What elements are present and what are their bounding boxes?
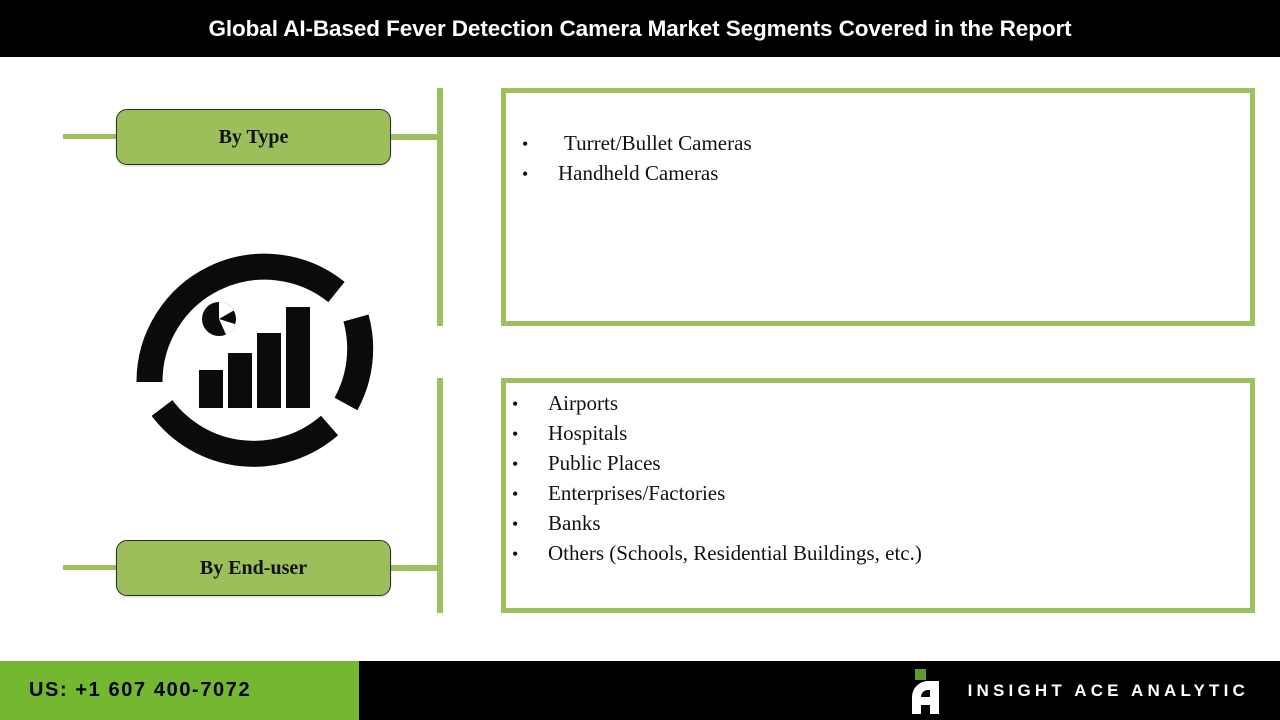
segment-label-by-end-user[interactable]: By End-user xyxy=(116,540,391,596)
bullet-icon: • xyxy=(512,390,548,419)
list-item: • Banks xyxy=(512,509,1250,539)
list-item: • Others (Schools, Residential Buildings… xyxy=(512,539,1250,569)
list-item: • Airports xyxy=(512,389,1250,419)
connector-stub-left-type xyxy=(63,134,117,139)
list-item: • Hospitals xyxy=(512,419,1250,449)
connector-vertical-bottom xyxy=(437,378,443,613)
connector-horizontal-type xyxy=(389,134,443,140)
connector-stub-left-enduser xyxy=(63,565,117,570)
bullet-icon: • xyxy=(512,540,548,569)
bullet-icon: • xyxy=(512,420,548,449)
analytics-ring-icon xyxy=(113,222,385,484)
bullet-icon: • xyxy=(512,510,548,539)
list-item: • Turret/Bullet Cameras xyxy=(522,129,1250,159)
connector-horizontal-enduser xyxy=(389,565,443,571)
list-item-label: Handheld Cameras xyxy=(558,159,718,188)
segment-label-by-type[interactable]: By Type xyxy=(116,109,391,165)
list-item-label: Airports xyxy=(548,389,618,418)
list-item-label: Public Places xyxy=(548,449,661,478)
bullet-icon: • xyxy=(512,450,548,479)
bullet-icon: • xyxy=(512,480,548,509)
footer-contact-block: US: +1 607 400-7072 xyxy=(0,661,359,720)
bullet-icon: • xyxy=(522,130,558,159)
bullet-icon: • xyxy=(522,160,558,189)
content-box-by-end-user: • Airports • Hospitals • Public Places •… xyxy=(501,378,1255,613)
footer-brand-block: INSIGHT ACE ANALYTIC xyxy=(906,661,1249,720)
brand-name-label: INSIGHT ACE ANALYTIC xyxy=(968,681,1249,701)
page-title: Global AI-Based Fever Detection Camera M… xyxy=(0,0,1280,57)
content-box-by-type: • Turret/Bullet Cameras • Handheld Camer… xyxy=(501,88,1255,326)
list-item-label: Hospitals xyxy=(548,419,627,448)
list-item-label: Others (Schools, Residential Buildings, … xyxy=(548,539,922,568)
list-item-label: Banks xyxy=(548,509,601,538)
list-item: • Handheld Cameras xyxy=(522,159,1250,189)
bullet-list-by-end-user: • Airports • Hospitals • Public Places •… xyxy=(512,389,1250,569)
bullet-list-by-type: • Turret/Bullet Cameras • Handheld Camer… xyxy=(522,129,1250,189)
footer-phone-number[interactable]: US: +1 607 400-7072 xyxy=(0,679,251,702)
insight-ace-analytic-logo-icon xyxy=(906,667,950,715)
list-item-label: Enterprises/Factories xyxy=(548,479,725,508)
connector-vertical-top xyxy=(437,88,443,326)
list-item: • Public Places xyxy=(512,449,1250,479)
list-item-label: Turret/Bullet Cameras xyxy=(558,129,752,158)
list-item: • Enterprises/Factories xyxy=(512,479,1250,509)
slide-canvas: Global AI-Based Fever Detection Camera M… xyxy=(0,0,1280,720)
